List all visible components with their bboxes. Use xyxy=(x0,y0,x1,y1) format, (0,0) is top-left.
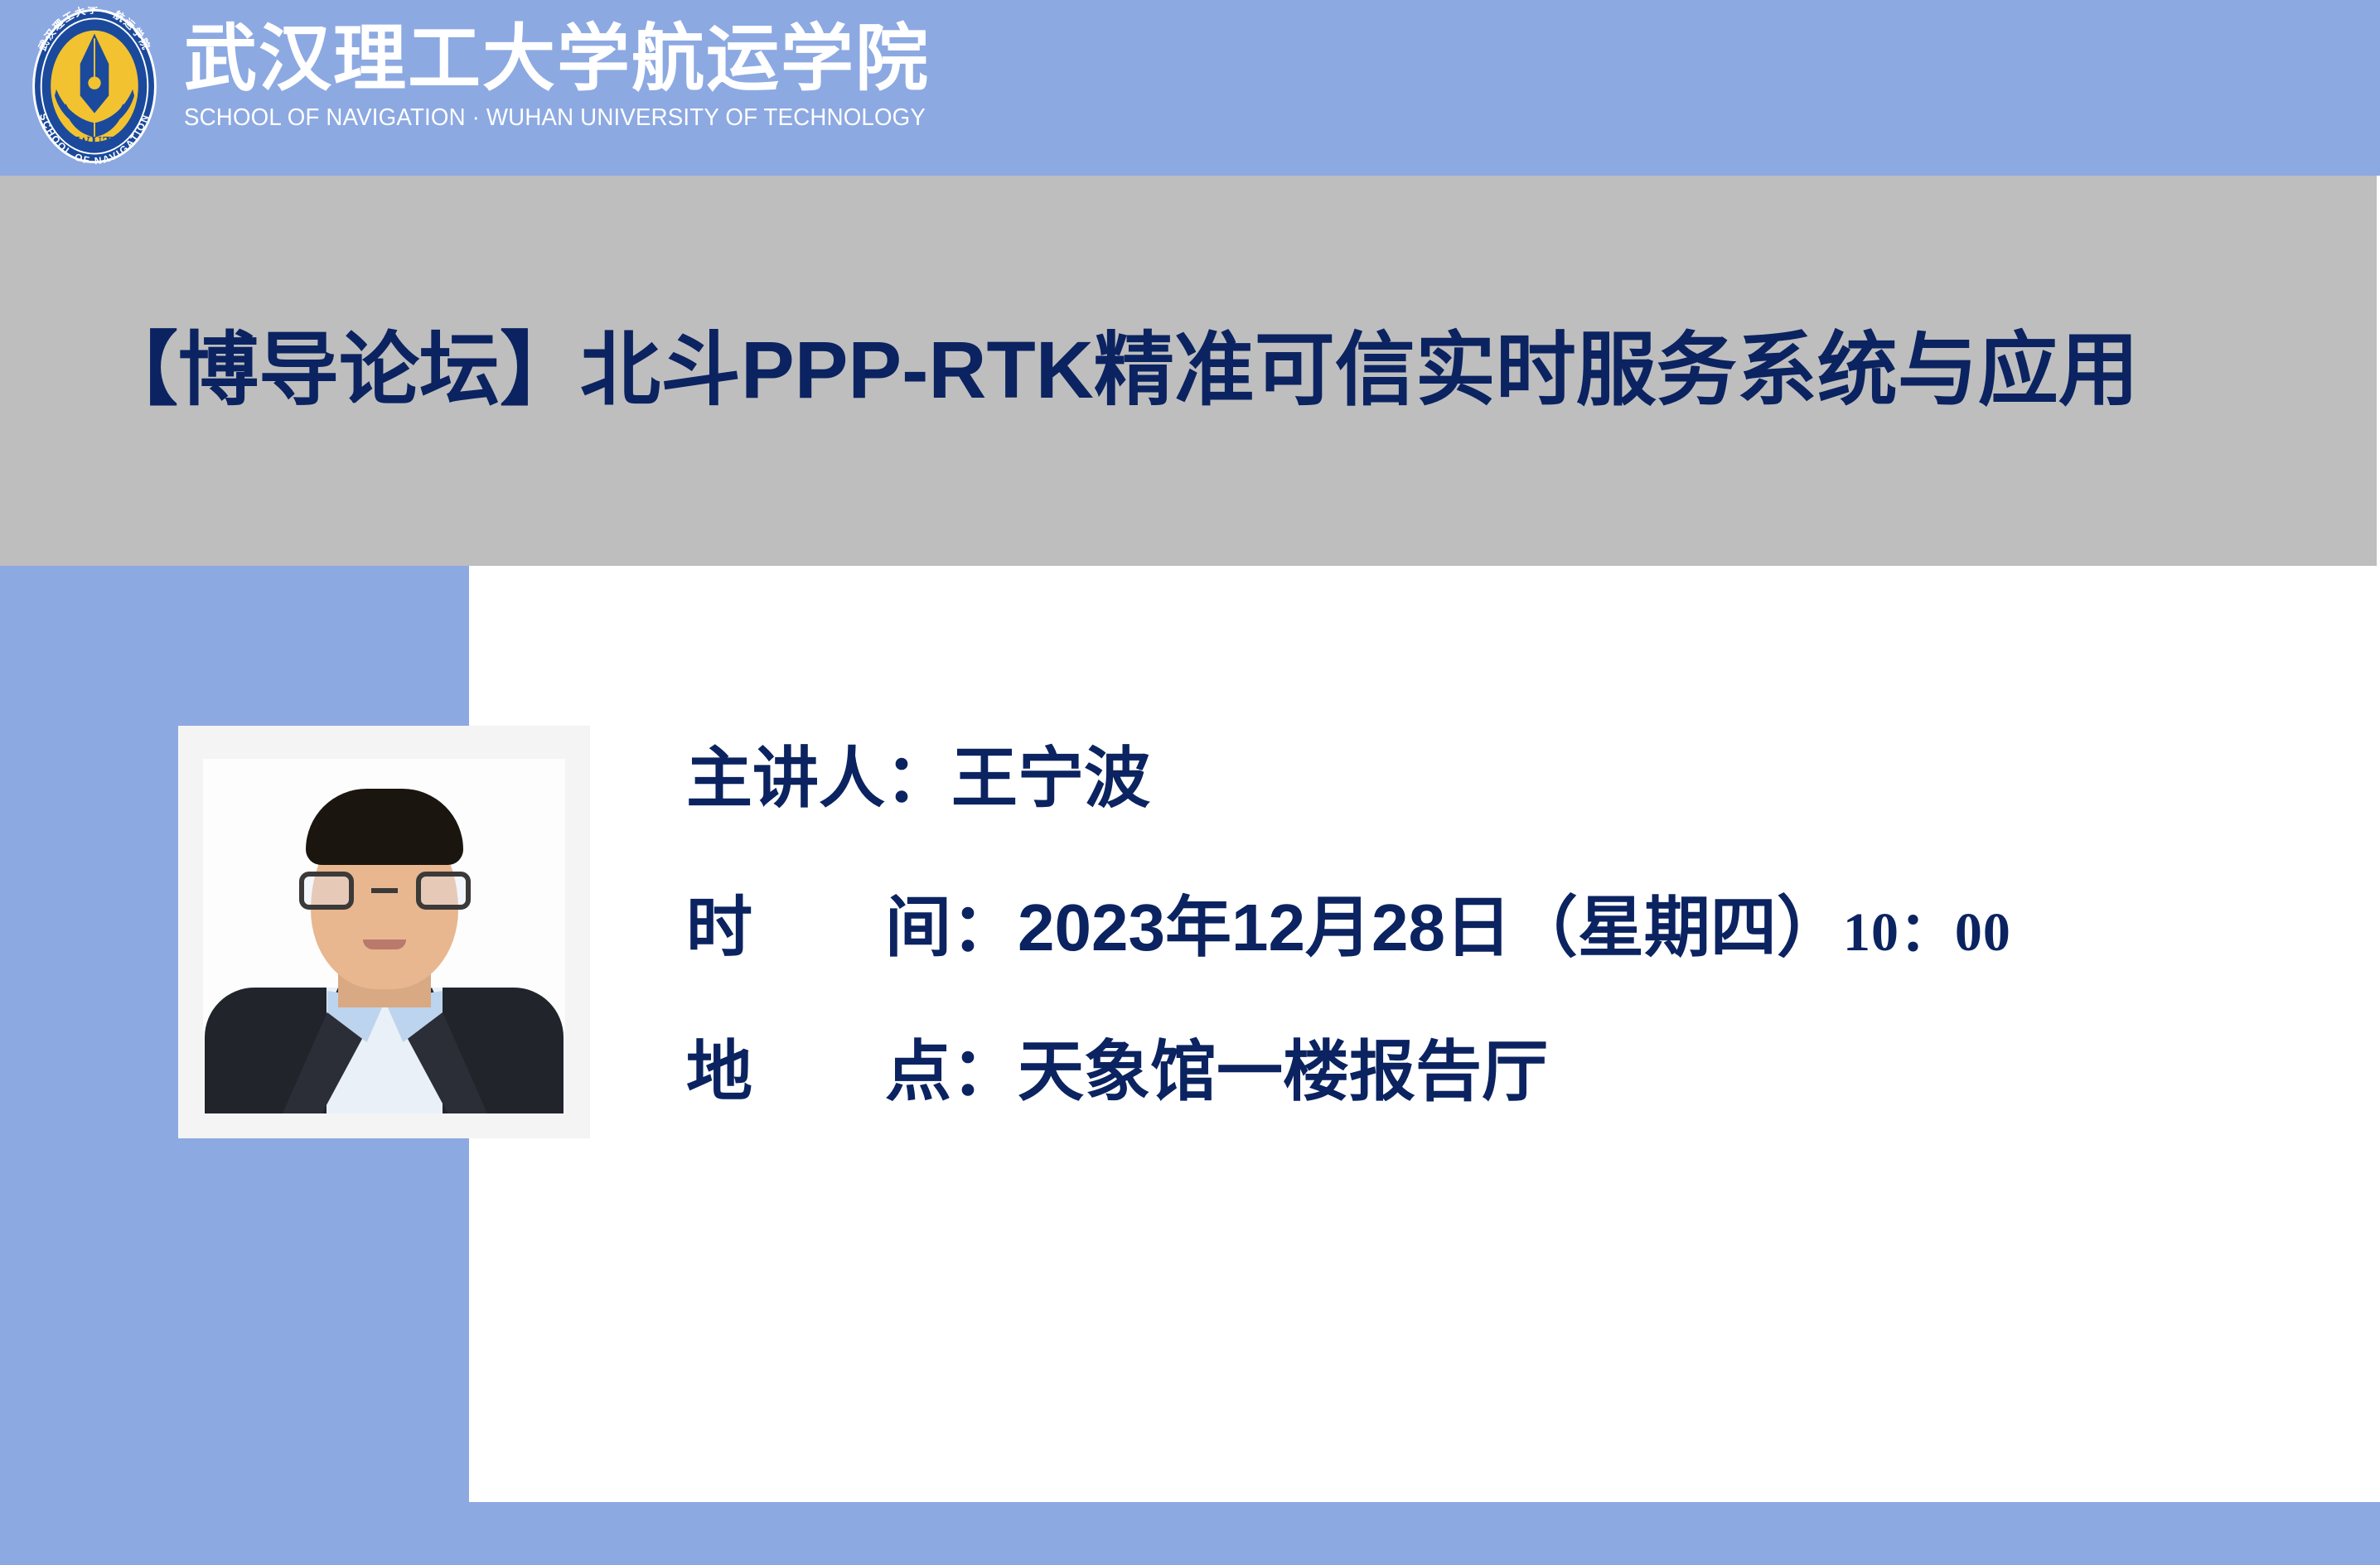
svg-text:WUT: WUT xyxy=(75,133,114,150)
place-line: 地 点：天象馆一楼报告厅 xyxy=(686,1039,2310,1105)
poster-header: WUT SCHOOL OF NAVIGATION 武汉理工大学 · 航运学院 武… xyxy=(0,0,2380,176)
bottom-accent-bar xyxy=(0,1502,2380,1565)
organization-name-en: SCHOOL OF NAVIGATION · WUHAN UNIVERSITY … xyxy=(184,104,988,132)
time-clock: 10：00 xyxy=(1843,902,2011,963)
title-band: 【博导论坛】北斗PPP-RTK精准可信实时服务系统与应用 xyxy=(0,176,2377,566)
time-line: 时 间：2023年12月28日（星期四）10：00 xyxy=(686,895,2310,961)
event-poster: WUT SCHOOL OF NAVIGATION 武汉理工大学 · 航运学院 武… xyxy=(0,0,2380,1565)
time-label: 时 间： xyxy=(686,891,1018,964)
speaker-line: 主讲人：王宁波 xyxy=(686,746,2310,812)
event-details: 主讲人：王宁波 时 间：2023年12月28日（星期四）10：00 地 点：天象… xyxy=(686,746,2310,1105)
page-title: 【博导论坛】北斗PPP-RTK精准可信实时服务系统与应用 xyxy=(98,326,2139,415)
portrait-image xyxy=(203,759,565,1113)
university-logo-icon: WUT SCHOOL OF NAVIGATION 武汉理工大学 · 航运学院 xyxy=(15,7,174,166)
organization-name-cn: 武汉理工大学航运学院 xyxy=(184,22,1013,96)
time-date: 2023年12月28日（星期四） xyxy=(1018,891,1843,964)
speaker-portrait xyxy=(178,726,590,1138)
header-text-block: 武汉理工大学航运学院 SCHOOL OF NAVIGATION · WUHAN … xyxy=(184,22,1013,132)
